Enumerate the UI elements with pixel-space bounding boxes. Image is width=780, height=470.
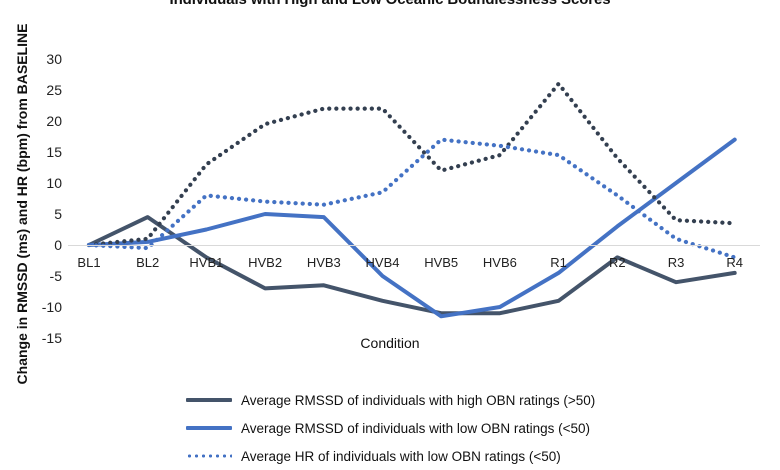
x-tick-label: HVB1 bbox=[176, 256, 236, 269]
legend-label: Average RMSSD of individuals with high O… bbox=[241, 393, 595, 408]
series-lines bbox=[0, 0, 780, 380]
legend-label: Average HR of individuals with low OBN r… bbox=[241, 449, 561, 464]
chart-container: Individuals with High and Low Oceanic Bo… bbox=[0, 0, 780, 470]
legend-swatch bbox=[186, 454, 232, 458]
legend-item[interactable]: Average RMSSD of individuals with low OB… bbox=[0, 414, 780, 442]
x-tick-label: R4 bbox=[705, 256, 765, 269]
legend-label: Average RMSSD of individuals with low OB… bbox=[241, 421, 590, 436]
x-tick-label: R1 bbox=[529, 256, 589, 269]
x-tick-label: HVB5 bbox=[411, 256, 471, 269]
x-tick-label: BL1 bbox=[59, 256, 119, 269]
x-tick-label: R2 bbox=[587, 256, 647, 269]
x-axis-title: Condition bbox=[0, 335, 780, 351]
x-tick-label: R3 bbox=[646, 256, 706, 269]
series-line bbox=[89, 140, 735, 258]
x-tick-label: HVB6 bbox=[470, 256, 530, 269]
legend-swatch bbox=[186, 426, 232, 430]
legend-item[interactable]: Average RMSSD of individuals with high O… bbox=[0, 386, 780, 414]
x-tick-label: HVB3 bbox=[294, 256, 354, 269]
plot-area bbox=[0, 0, 780, 380]
chart-legend: Average RMSSD of individuals with high O… bbox=[0, 386, 780, 470]
x-tick-label: HVB2 bbox=[235, 256, 295, 269]
zero-baseline bbox=[68, 245, 760, 246]
legend-swatch bbox=[186, 398, 232, 402]
legend-item[interactable]: Average HR of individuals with low OBN r… bbox=[0, 442, 780, 470]
x-tick-label: HVB4 bbox=[353, 256, 413, 269]
x-tick-label: BL2 bbox=[118, 256, 178, 269]
